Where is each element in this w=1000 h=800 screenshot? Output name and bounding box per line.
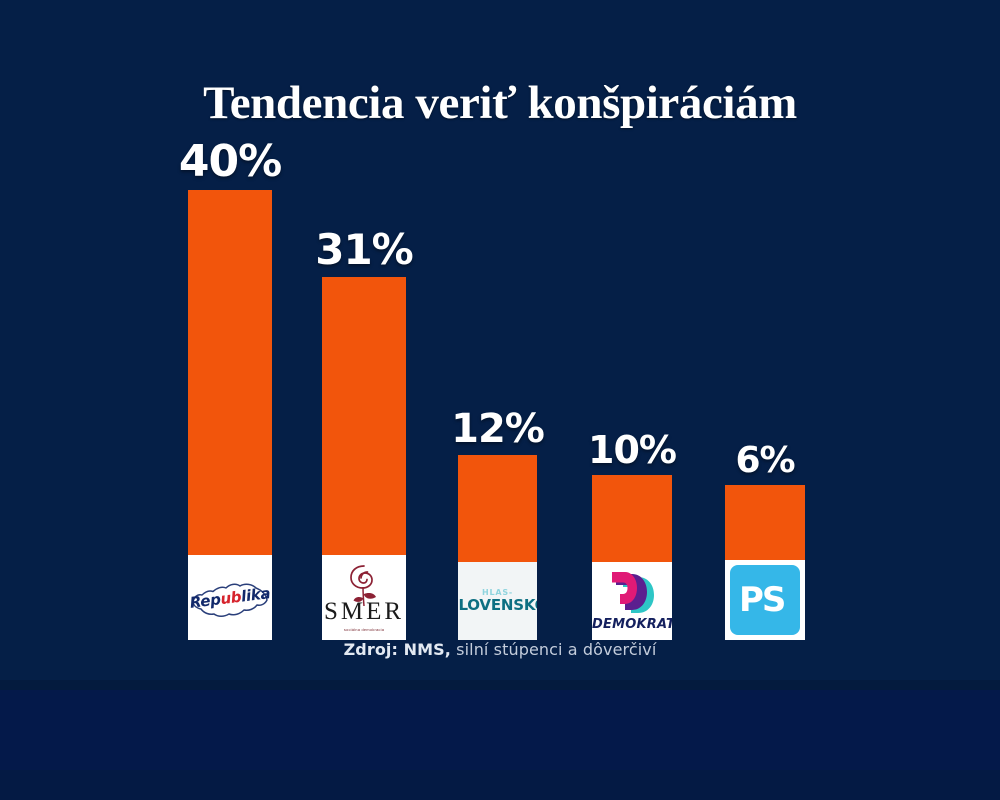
bar-value-label-demokrati: 10% xyxy=(588,431,676,469)
background-band-lower xyxy=(0,770,1000,800)
party-logo-card-ps: PS xyxy=(725,560,805,640)
republika-word-part-2: ub xyxy=(219,587,242,607)
hlas-wordmark-block: HLAS- SLOVENSKO xyxy=(458,589,537,614)
source-caption: Zdroj: NMS, silní stúpenci a dôverčiví xyxy=(0,640,1000,659)
ps-tile-icon: PS xyxy=(730,565,800,635)
bar-group-demokrati: 10% DEMOKRATI xyxy=(592,475,672,640)
demokrati-logo: DEMOKRATI xyxy=(592,562,672,640)
republika-logo: Republika xyxy=(188,555,272,640)
bar-group-republika: 40% Republika xyxy=(188,190,272,640)
smer-logo: SMER sociálna demokracia xyxy=(322,555,406,640)
hlas-logo: HLAS- SLOVENSKO xyxy=(458,562,537,640)
bar-value-label-hlas: 12% xyxy=(451,409,544,449)
bar-group-ps: 6% PS xyxy=(725,485,805,640)
bar-group-hlas: 12% HLAS- SLOVENSKO xyxy=(458,455,537,640)
smer-subtitle: sociálna demokracia xyxy=(322,628,406,632)
party-logo-card-republika: Republika xyxy=(188,555,272,640)
bar-chart-plot-area: 40% Republika 31% xyxy=(0,0,1000,640)
source-rest: silní stúpenci a dôverčiví xyxy=(451,640,656,659)
smer-wordmark: SMER xyxy=(322,599,406,624)
infographic-root: Tendencia veriť konšpiráciám 40% Republi… xyxy=(0,0,1000,800)
ps-logo: PS xyxy=(725,560,805,640)
bar-value-label-republika: 40% xyxy=(179,140,281,184)
republika-word-part-3: lika xyxy=(240,584,271,605)
party-logo-card-demokrati: DEMOKRATI xyxy=(592,562,672,640)
hlas-wordmark-bottom: SLOVENSKO xyxy=(458,597,537,614)
bar-value-label-smer: 31% xyxy=(315,229,413,271)
svg-text:PS: PS xyxy=(739,580,784,620)
party-logo-card-hlas: HLAS- SLOVENSKO xyxy=(458,562,537,640)
bar-value-label-ps: 6% xyxy=(735,443,794,479)
demokrati-wordmark: DEMOKRATI xyxy=(592,618,672,631)
source-lead: Zdroj: NMS, xyxy=(344,640,451,659)
demokrati-d-icon xyxy=(603,570,661,623)
bar-group-smer: 31% SMER xyxy=(322,277,406,640)
background-band-upper xyxy=(0,680,1000,690)
background-band-middle xyxy=(0,690,1000,770)
republika-word-part-1: Rep xyxy=(189,590,222,612)
party-logo-card-smer: SMER sociálna demokracia xyxy=(322,555,406,640)
